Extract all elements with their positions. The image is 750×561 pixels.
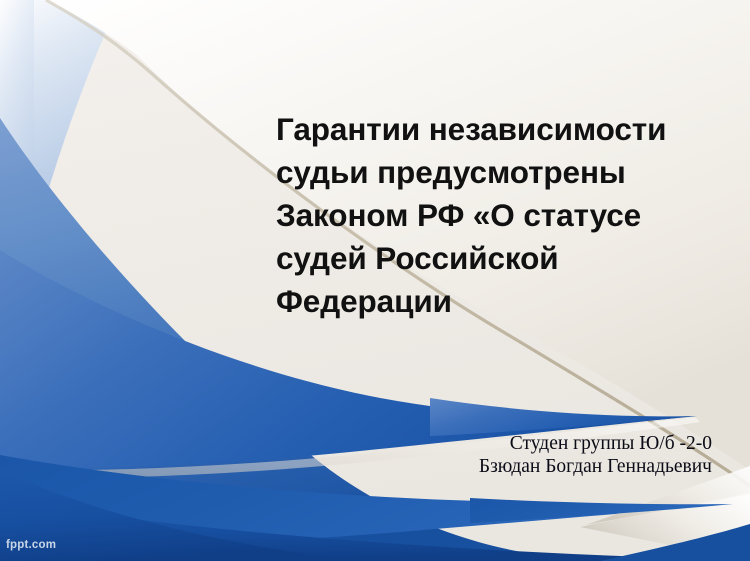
title-block: Гарантии независимости судьи предусмотре… [276, 108, 696, 323]
presentation-slide: Гарантии независимости судьи предусмотре… [0, 0, 750, 561]
author-line-group: Студен группы Ю/б -2-0 [300, 432, 712, 455]
author-block: Студен группы Ю/б -2-0 Бзюдан Богдан Ген… [300, 432, 712, 478]
page-title: Гарантии независимости судьи предусмотре… [276, 108, 696, 323]
author-line-name: Бзюдан Богдан Геннадьевич [300, 455, 712, 478]
fppt-watermark: fppt.com [6, 539, 56, 551]
